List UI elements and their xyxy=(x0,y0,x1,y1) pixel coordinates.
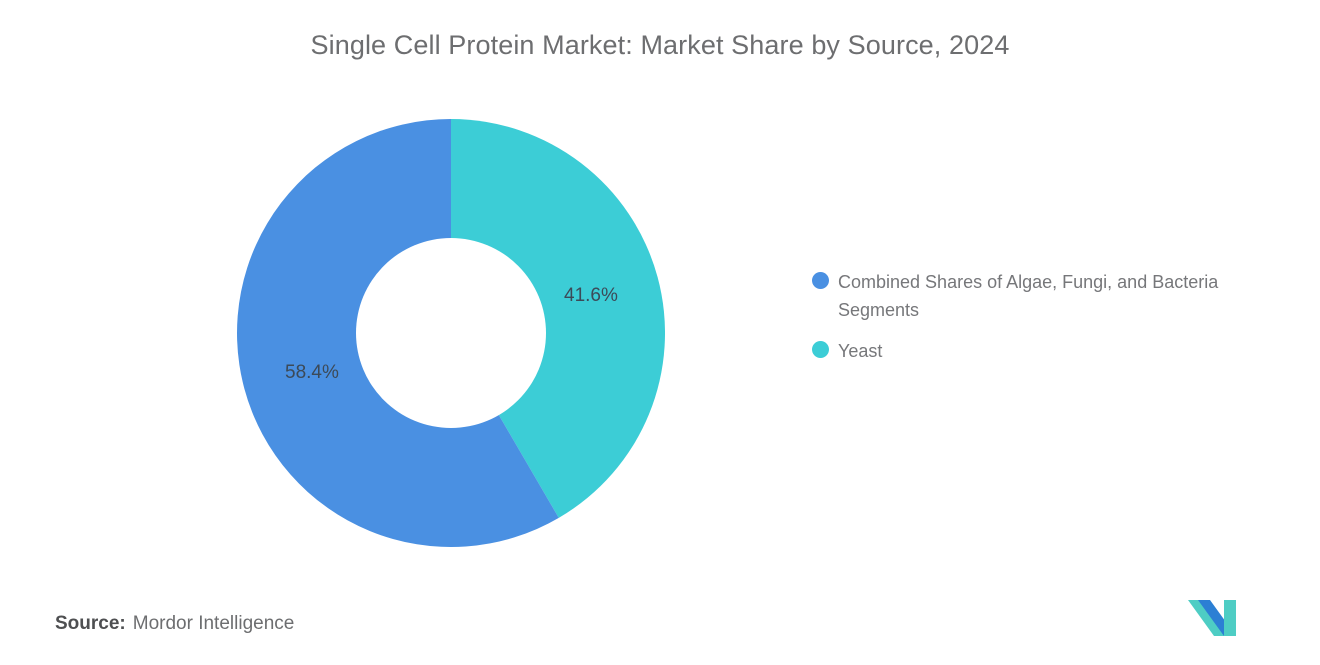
legend-color-swatch-icon xyxy=(812,272,829,289)
donut-chart xyxy=(237,119,665,547)
legend-color-swatch-icon xyxy=(812,341,829,358)
slice-label-combined: 58.4% xyxy=(285,362,339,384)
page-title: Single Cell Protein Market: Market Share… xyxy=(0,30,1320,61)
legend-item-label: Combined Shares of Algae, Fungi, and Bac… xyxy=(838,268,1230,324)
mordor-intelligence-logo-icon xyxy=(1186,598,1250,638)
legend-item-label: Yeast xyxy=(838,337,882,365)
chart-canvas: Single Cell Protein Market: Market Share… xyxy=(0,0,1320,665)
slice-label-yeast: 41.6% xyxy=(564,285,618,307)
chart-legend: Combined Shares of Algae, Fungi, and Bac… xyxy=(812,268,1252,378)
donut-chart-svg xyxy=(237,119,665,547)
source-label: Source: xyxy=(55,613,126,634)
legend-item-combined[interactable]: Combined Shares of Algae, Fungi, and Bac… xyxy=(812,268,1252,324)
logo-svg xyxy=(1186,598,1250,638)
legend-item-yeast[interactable]: Yeast xyxy=(812,337,1252,365)
donut-hole xyxy=(356,238,546,428)
source-attribution: Source:Mordor Intelligence xyxy=(55,613,294,635)
source-value: Mordor Intelligence xyxy=(133,613,295,634)
